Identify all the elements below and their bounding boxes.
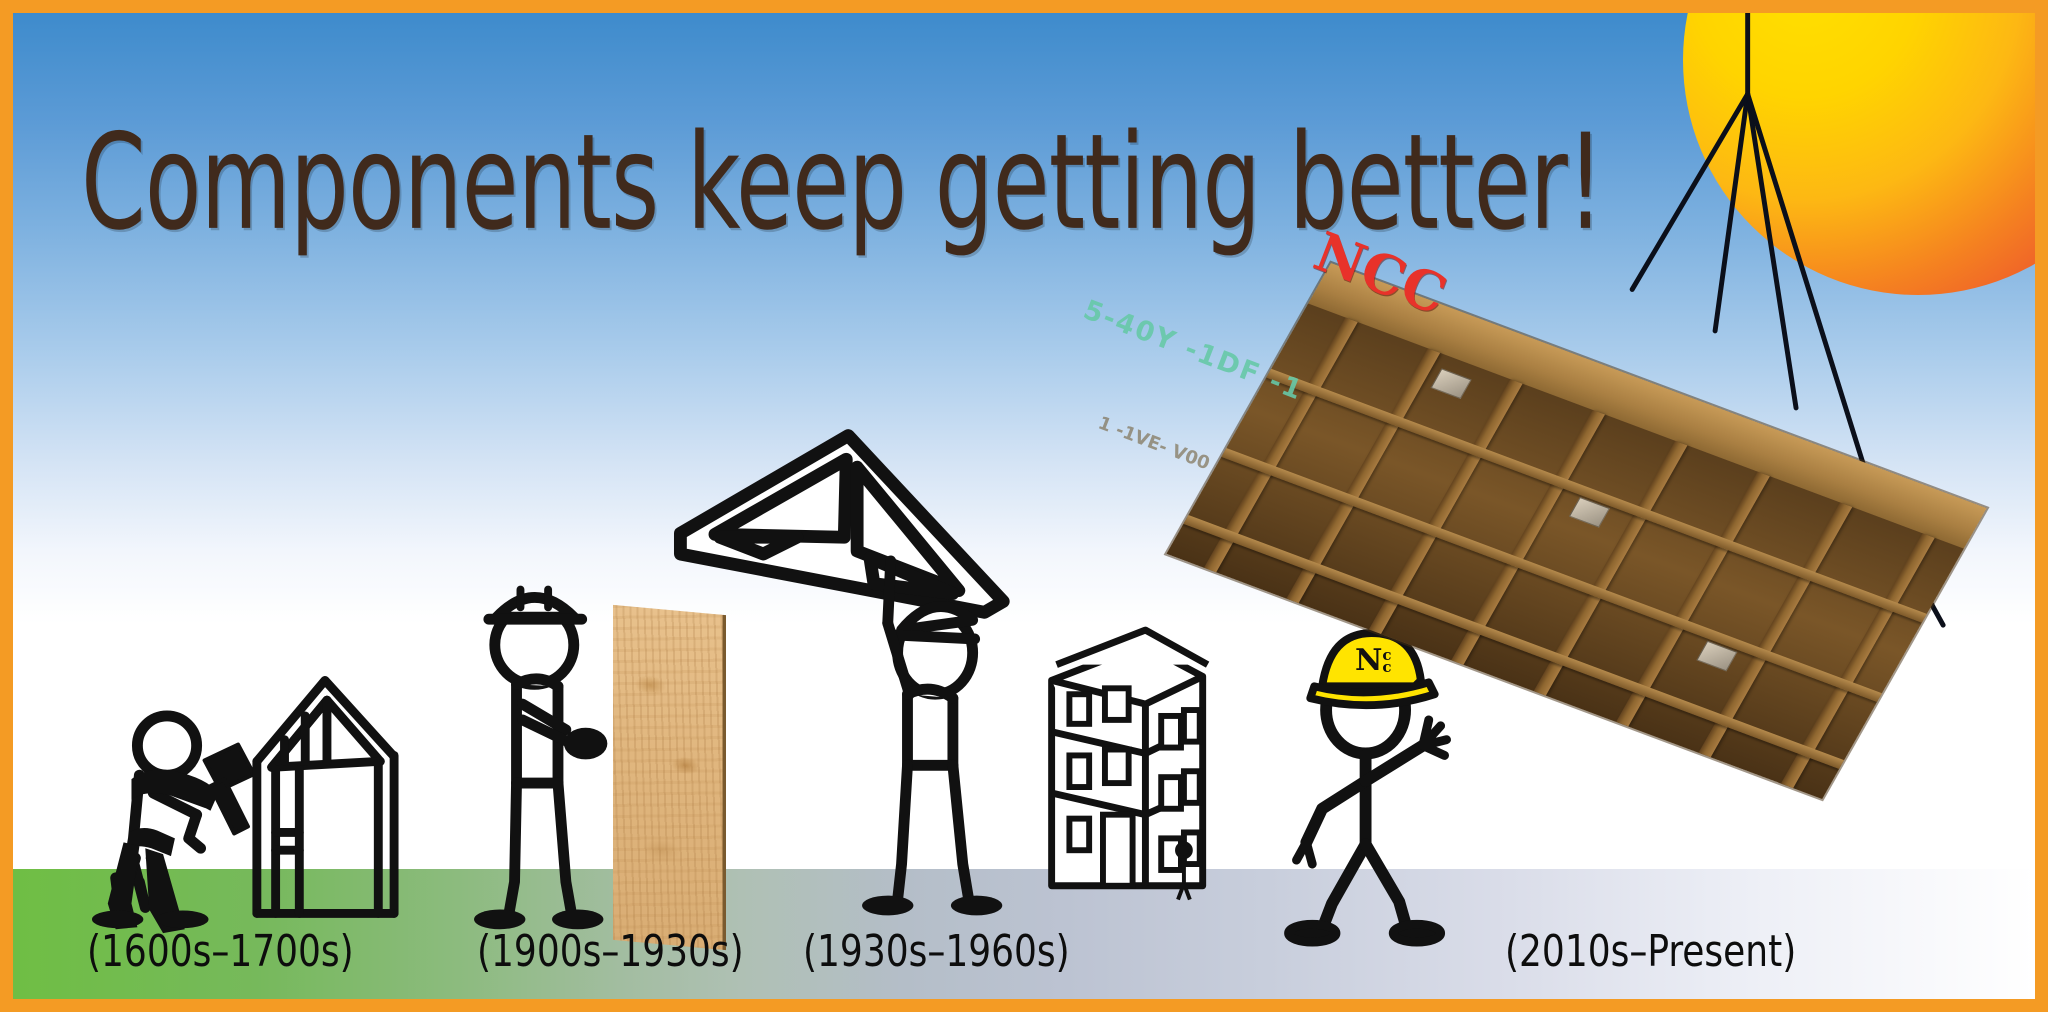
timber-frame-house [257,680,394,913]
ncc-worker-leg-right [1366,844,1407,929]
truss-worker-foot-front [951,896,1002,916]
window-7 [1161,777,1181,809]
truss-worker-arm-raised [888,561,891,623]
plywood-worker-hand [564,728,607,760]
ncc-worker-leg-left [1322,844,1365,929]
era-caption-1: (1600s–1700s) [87,926,354,977]
floor-cassette-panel: NCC 5-40Y -1DF -1 1 -1VE- V00 [1331,263,2035,783]
era-caption-4: (2010s–Present) [1505,926,1796,977]
plywood-sheet-icon [613,605,726,950]
truss-worker-helmet-brim [895,635,975,639]
window-1 [1069,694,1089,724]
era-caption-2: (1900s–1930s) [477,926,744,977]
window-6 [1105,750,1129,784]
window-3 [1161,716,1181,748]
ncc-worker-foot-left [1289,924,1336,942]
window-8 [1184,771,1200,803]
roof-truss-icon [680,436,1003,613]
window-2 [1105,688,1129,720]
ncc-worker-left-hand [1296,842,1312,864]
truss-worker-feet [862,896,1002,916]
window-4 [1184,710,1200,742]
page-title: Components keep getting better! [81,117,1603,249]
era-caption-3: (1930s–1960s) [803,926,1070,977]
plywood-worker-leg-front [558,783,572,915]
plywood-worker-shoulders [517,679,558,686]
poster-canvas: N c c [0,0,2048,1012]
ncc-worker-arm-left [1306,781,1365,842]
truss-worker-leg-back [898,765,908,899]
plywood-worker-extremities [474,728,607,929]
window-5 [1069,755,1089,787]
building-door [1103,815,1133,886]
hammer-handle [210,779,248,833]
carpenter-head [137,716,196,775]
truss-worker-foot-back [862,896,913,916]
poster-stage: N c c [13,13,2035,999]
truss-worker-leg-front [953,765,969,899]
hammer-icon [205,745,254,834]
truss-worker-figure [888,561,975,900]
window-9 [1069,819,1089,851]
carpenter-arm-lower [189,815,201,849]
truss-worker-helmet [902,607,973,631]
scale-person-head [1177,843,1191,857]
building-parapet [1057,630,1208,665]
ncc-worker-foot-right [1393,924,1440,942]
plywood-worker-leg-back [509,783,517,915]
